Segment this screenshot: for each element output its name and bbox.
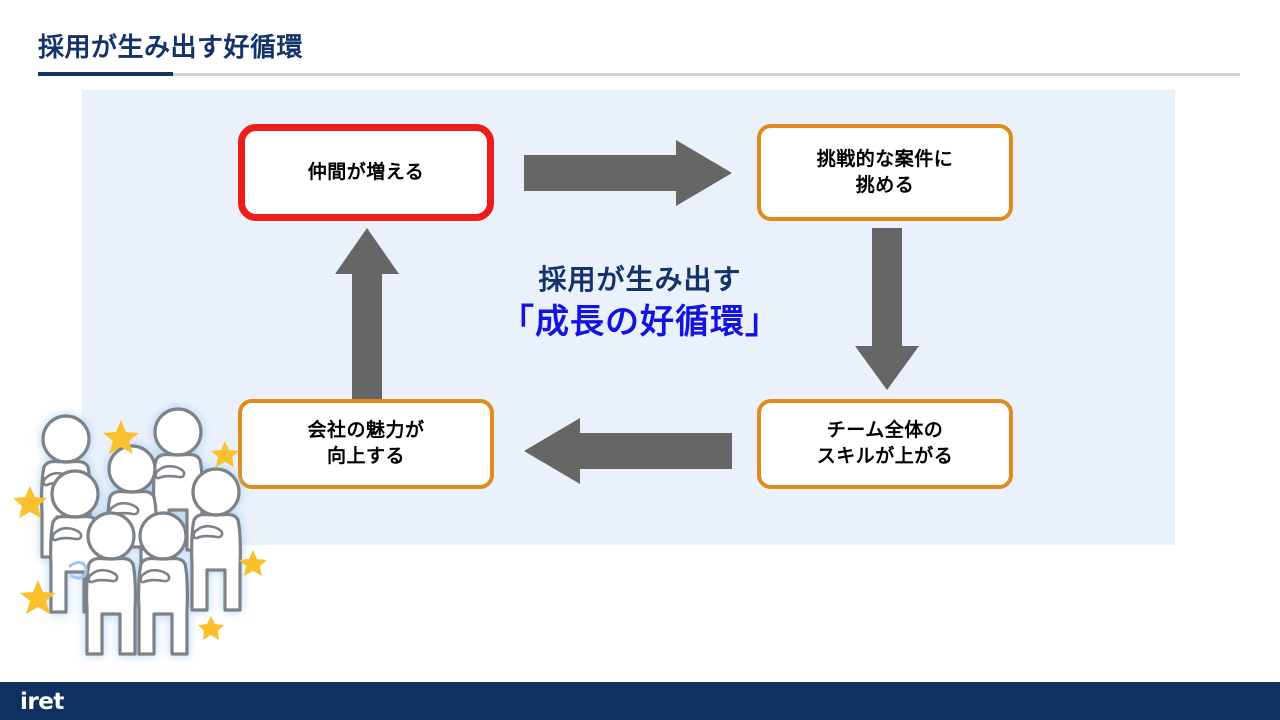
cycle-box-colleagues[interactable]: 仲間が増える bbox=[238, 124, 494, 221]
arrow-up-icon bbox=[335, 228, 399, 400]
cycle-box-label-line1: 会社の魅力が bbox=[307, 420, 424, 441]
cycle-box-label-line1: チーム全体の bbox=[827, 420, 943, 441]
arrow-right-icon bbox=[524, 140, 732, 206]
center-caption: 採用が生み出す 「成長の好循環」 bbox=[460, 262, 820, 344]
title-divider bbox=[38, 73, 1240, 76]
page-title: 採用が生み出す好循環 bbox=[38, 27, 303, 64]
center-caption-line1: 採用が生み出す bbox=[460, 262, 820, 297]
cycle-box-label-line2: 向上する bbox=[327, 446, 405, 467]
arrow-left-icon bbox=[524, 418, 732, 484]
cycle-box-label: 挑戦的な案件に 挑める bbox=[817, 147, 954, 198]
group-of-people-icon bbox=[8, 398, 270, 676]
cycle-box-label: 会社の魅力が 向上する bbox=[307, 418, 424, 469]
cycle-box-label-line2: スキルが上がる bbox=[817, 446, 954, 467]
cycle-box-attractive[interactable]: 会社の魅力が 向上する bbox=[238, 399, 494, 489]
iret-logo: iret bbox=[20, 689, 64, 715]
center-caption-line2: 「成長の好循環」 bbox=[460, 301, 820, 344]
footer-bar: iret bbox=[0, 682, 1280, 720]
cycle-box-skills[interactable]: チーム全体の スキルが上がる bbox=[757, 399, 1013, 489]
cycle-box-label: 仲間が増える bbox=[308, 160, 424, 186]
cycle-box-label-line2: 挑める bbox=[856, 175, 915, 196]
cycle-box-label: チーム全体の スキルが上がる bbox=[817, 418, 954, 469]
cycle-box-label-line1: 挑戦的な案件に bbox=[817, 149, 954, 170]
cycle-box-challenge[interactable]: 挑戦的な案件に 挑める bbox=[757, 124, 1013, 221]
arrow-down-icon bbox=[855, 228, 919, 390]
title-accent-underline bbox=[38, 72, 173, 76]
